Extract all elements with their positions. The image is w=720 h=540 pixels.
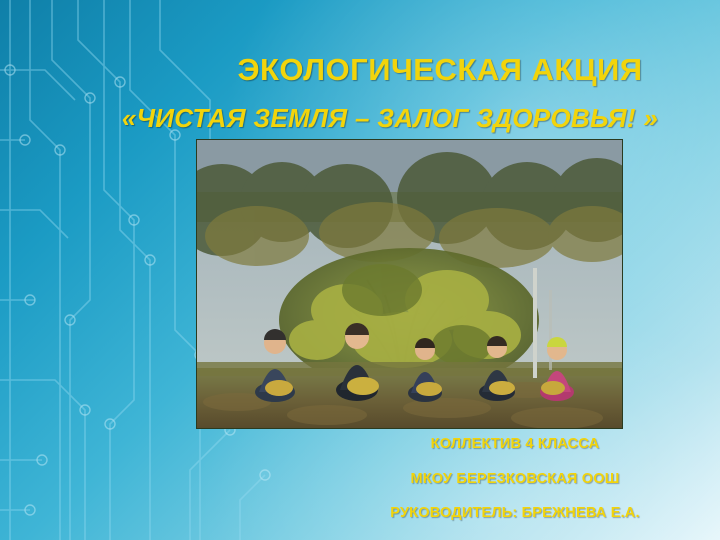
credits-block: КОЛЛЕКТИВ 4 КЛАССА МКОУ БЕРЕЗКОВСКАЯ ООШ…: [330, 437, 700, 521]
photo-illustration: [197, 140, 622, 428]
slide-title-line-2: «ЧИСТАЯ ЗЕМЛЯ – ЗАЛОГ ЗДОРОВЬЯ! »: [70, 103, 710, 134]
credit-line-supervisor: РУКОВОДИТЕЛЬ: БРЕЖНЕВА Е.А.: [330, 506, 700, 521]
credit-line-class: КОЛЛЕКТИВ 4 КЛАССА: [330, 437, 700, 452]
slide-title-line-1: ЭКОЛОГИЧЕСКАЯ АКЦИЯ: [170, 52, 710, 88]
event-photo: [196, 139, 623, 429]
slide: ЭКОЛОГИЧЕСКАЯ АКЦИЯ «ЧИСТАЯ ЗЕМЛЯ – ЗАЛО…: [0, 0, 720, 540]
credit-line-school: МКОУ БЕРЕЗКОВСКАЯ ООШ: [330, 472, 700, 487]
